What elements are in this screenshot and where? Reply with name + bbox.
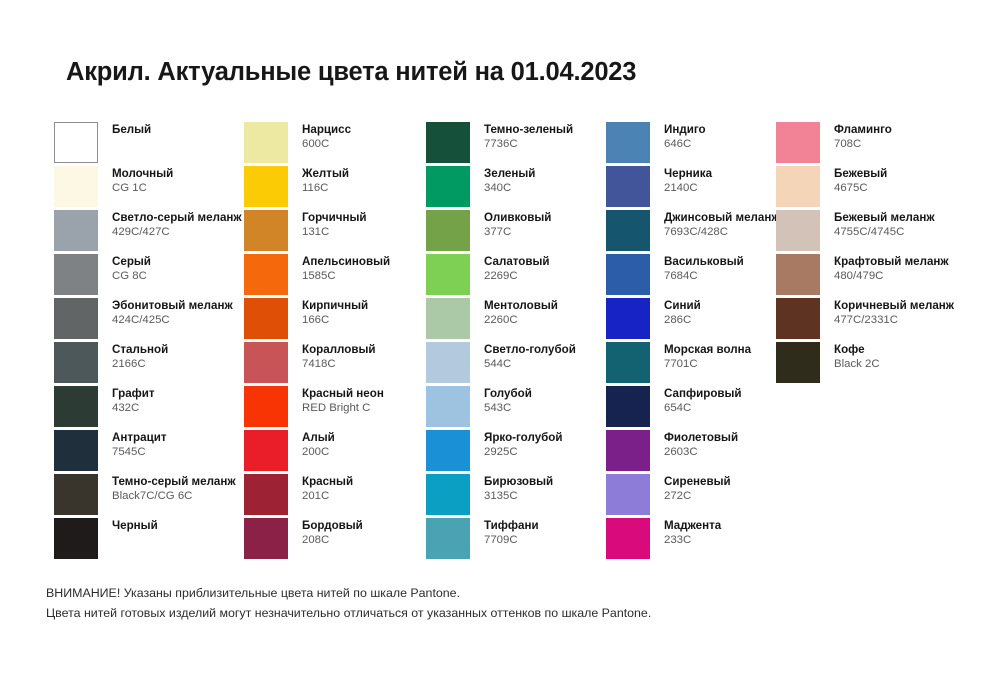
swatch-labels: Сапфировый 654C — [650, 386, 742, 415]
color-chip — [776, 254, 820, 295]
color-chip — [244, 298, 288, 339]
color-chip — [244, 474, 288, 515]
color-code: Black7C/CG 6C — [112, 490, 236, 503]
swatch-column-1: Белый Молочный CG 1C Светло-серый меланж… — [54, 122, 244, 562]
swatch-labels: Коричневый меланж 477C/2331C — [820, 298, 954, 327]
color-name: Бежевый — [834, 167, 887, 181]
swatch-column-2: Нарцисс 600C Желтый 116C Горчичный 131C — [244, 122, 426, 562]
swatch-labels: Красный 201C — [288, 474, 353, 503]
color-name: Зеленый — [484, 167, 535, 181]
color-chip — [54, 430, 98, 471]
swatch-row: Эбонитовый меланж 424C/425C — [54, 298, 244, 342]
swatch-row: Кирпичный 166C — [244, 298, 426, 342]
color-code: 208C — [302, 534, 363, 547]
color-name: Стальной — [112, 343, 168, 357]
swatch-row: Светло-голубой 544C — [426, 342, 606, 386]
color-chip — [776, 166, 820, 207]
color-chip — [244, 342, 288, 383]
color-code: 377C — [484, 226, 551, 239]
color-chip — [606, 210, 650, 251]
color-chip — [54, 166, 98, 207]
swatch-labels: Зеленый 340C — [470, 166, 535, 195]
color-code: 2603C — [664, 446, 738, 459]
swatch-labels: Темно-зеленый 7736C — [470, 122, 573, 151]
swatch-row: Морская волна 7701C — [606, 342, 776, 386]
color-name: Маджента — [664, 519, 721, 533]
color-code: 286C — [664, 314, 701, 327]
color-name: Бирюзовый — [484, 475, 553, 489]
color-chip — [54, 342, 98, 383]
color-chip — [54, 518, 98, 559]
color-code: 2140C — [664, 182, 712, 195]
color-name: Сиреневый — [664, 475, 731, 489]
color-code: 1585C — [302, 270, 390, 283]
color-code: 7736C — [484, 138, 573, 151]
color-chip — [426, 254, 470, 295]
color-chip — [244, 518, 288, 559]
color-code: 600C — [302, 138, 351, 151]
color-code: CG 1C — [112, 182, 173, 195]
color-name: Индиго — [664, 123, 706, 137]
swatch-labels: Алый 200C — [288, 430, 335, 459]
color-chip — [776, 210, 820, 251]
color-name: Серый — [112, 255, 151, 269]
color-code: 2166C — [112, 358, 168, 371]
swatch-row: Черный — [54, 518, 244, 562]
color-chip — [606, 518, 650, 559]
color-name: Тиффани — [484, 519, 539, 533]
color-chip — [244, 254, 288, 295]
color-chip — [244, 430, 288, 471]
color-chip — [776, 298, 820, 339]
swatch-row: Светло-серый меланж 429C/427C — [54, 210, 244, 254]
swatch-labels: Темно-серый меланж Black7C/CG 6C — [98, 474, 236, 503]
color-name: Васильковый — [664, 255, 744, 269]
color-name: Красный неон — [302, 387, 384, 401]
color-code: 233C — [664, 534, 721, 547]
swatch-labels: Фиолетовый 2603C — [650, 430, 738, 459]
color-name: Синий — [664, 299, 701, 313]
color-code: 544C — [484, 358, 576, 371]
color-code: 646C — [664, 138, 706, 151]
color-chip — [606, 474, 650, 515]
color-name: Бордовый — [302, 519, 363, 533]
color-name: Черный — [112, 519, 158, 533]
swatch-row: Ярко-голубой 2925C — [426, 430, 606, 474]
swatch-row: Молочный CG 1C — [54, 166, 244, 210]
color-name: Нарцисс — [302, 123, 351, 137]
color-chip — [426, 166, 470, 207]
swatch-labels: Красный неон RED Bright C — [288, 386, 384, 415]
color-name: Джинсовый меланж — [664, 211, 780, 225]
color-chip — [54, 386, 98, 427]
swatch-labels: Коралловый 7418C — [288, 342, 376, 371]
swatch-labels: Антрацит 7545C — [98, 430, 167, 459]
swatch-row: Красный неон RED Bright C — [244, 386, 426, 430]
color-code: 543C — [484, 402, 532, 415]
color-code: 166C — [302, 314, 368, 327]
swatch-row: Алый 200C — [244, 430, 426, 474]
color-chart-page: Акрил. Актуальные цвета нитей на 01.04.2… — [0, 0, 1000, 683]
swatch-row: Маджента 233C — [606, 518, 776, 562]
color-name: Крафтовый меланж — [834, 255, 949, 269]
color-name: Оливковый — [484, 211, 551, 225]
color-code: 480/479C — [834, 270, 949, 283]
color-name: Горчичный — [302, 211, 367, 225]
swatch-row: Сапфировый 654C — [606, 386, 776, 430]
swatch-row: Бежевый меланж 4755C/4745C — [776, 210, 976, 254]
color-chip — [54, 210, 98, 251]
color-name: Коралловый — [302, 343, 376, 357]
color-code: 7684C — [664, 270, 744, 283]
swatch-labels: Бирюзовый 3135C — [470, 474, 553, 503]
color-name: Кирпичный — [302, 299, 368, 313]
swatch-row: Желтый 116C — [244, 166, 426, 210]
color-chip — [54, 122, 98, 163]
color-code: CG 8C — [112, 270, 151, 283]
color-chip — [606, 122, 650, 163]
color-chip — [426, 386, 470, 427]
swatch-labels: Фламинго 708C — [820, 122, 892, 151]
swatch-labels: Графит 432C — [98, 386, 155, 415]
swatch-row: Зеленый 340C — [426, 166, 606, 210]
swatch-labels: Морская волна 7701C — [650, 342, 751, 371]
color-chip — [426, 342, 470, 383]
swatch-row: Графит 432C — [54, 386, 244, 430]
color-name: Молочный — [112, 167, 173, 181]
swatch-labels: Желтый 116C — [288, 166, 349, 195]
color-name: Бежевый меланж — [834, 211, 935, 225]
color-chip — [606, 430, 650, 471]
swatch-row: Джинсовый меланж 7693C/428C — [606, 210, 776, 254]
color-code: 131C — [302, 226, 367, 239]
color-code: 7709C — [484, 534, 539, 547]
swatch-labels: Бордовый 208C — [288, 518, 363, 547]
color-name: Коричневый меланж — [834, 299, 954, 313]
color-name: Голубой — [484, 387, 532, 401]
swatch-row: Стальной 2166C — [54, 342, 244, 386]
disclaimer-note: ВНИМАНИЕ! Указаны приблизительные цвета … — [46, 583, 651, 623]
color-code: Black 2C — [834, 358, 880, 371]
color-name: Сапфировый — [664, 387, 742, 401]
color-name: Ментоловый — [484, 299, 558, 313]
swatch-labels: Голубой 543C — [470, 386, 532, 415]
color-name: Красный — [302, 475, 353, 489]
swatch-row: Темно-серый меланж Black7C/CG 6C — [54, 474, 244, 518]
swatch-row: Бирюзовый 3135C — [426, 474, 606, 518]
swatch-labels: Джинсовый меланж 7693C/428C — [650, 210, 780, 239]
color-chip — [606, 254, 650, 295]
swatch-row: Крафтовый меланж 480/479C — [776, 254, 976, 298]
color-chip — [426, 210, 470, 251]
swatch-labels: Маджента 233C — [650, 518, 721, 547]
color-name: Фиолетовый — [664, 431, 738, 445]
swatch-row: Фламинго 708C — [776, 122, 976, 166]
swatch-column-3: Темно-зеленый 7736C Зеленый 340C Оливков… — [426, 122, 606, 562]
color-name: Кофе — [834, 343, 880, 357]
swatch-labels: Кирпичный 166C — [288, 298, 368, 327]
color-name: Светло-серый меланж — [112, 211, 242, 225]
swatch-row: Васильковый 7684C — [606, 254, 776, 298]
color-chip — [776, 342, 820, 383]
color-name: Салатовый — [484, 255, 550, 269]
swatch-labels: Кофе Black 2C — [820, 342, 880, 371]
swatch-row: Коралловый 7418C — [244, 342, 426, 386]
color-name: Алый — [302, 431, 335, 445]
swatch-labels: Синий 286C — [650, 298, 701, 327]
swatch-labels: Бежевый меланж 4755C/4745C — [820, 210, 935, 239]
color-code: 2260C — [484, 314, 558, 327]
color-code: 2269C — [484, 270, 550, 283]
color-chip — [426, 474, 470, 515]
swatch-row: Сиреневый 272C — [606, 474, 776, 518]
color-name: Ярко-голубой — [484, 431, 563, 445]
swatch-row: Красный 201C — [244, 474, 426, 518]
swatch-labels: Черный — [98, 518, 158, 534]
color-chip — [426, 122, 470, 163]
color-name: Фламинго — [834, 123, 892, 137]
swatch-column-4: Индиго 646C Черника 2140C Джинсовый мела… — [606, 122, 776, 562]
color-chip — [54, 254, 98, 295]
swatch-labels: Васильковый 7684C — [650, 254, 744, 283]
swatch-labels: Горчичный 131C — [288, 210, 367, 239]
color-chip — [54, 298, 98, 339]
color-code: 2925C — [484, 446, 563, 459]
swatch-labels: Ментоловый 2260C — [470, 298, 558, 327]
color-code: 272C — [664, 490, 731, 503]
color-code: 7693C/428C — [664, 226, 780, 239]
swatch-row: Белый — [54, 122, 244, 166]
color-name: Белый — [112, 123, 151, 137]
color-code: 477C/2331C — [834, 314, 954, 327]
swatch-column-5: Фламинго 708C Бежевый 4675C Бежевый мела… — [776, 122, 976, 386]
color-code: 7418C — [302, 358, 376, 371]
color-chip — [426, 430, 470, 471]
color-name: Антрацит — [112, 431, 167, 445]
color-chip — [426, 518, 470, 559]
color-name: Морская волна — [664, 343, 751, 357]
swatch-row: Серый CG 8C — [54, 254, 244, 298]
swatch-row: Антрацит 7545C — [54, 430, 244, 474]
swatch-row: Бордовый 208C — [244, 518, 426, 562]
color-name: Эбонитовый меланж — [112, 299, 233, 313]
swatch-labels: Оливковый 377C — [470, 210, 551, 239]
color-chip — [244, 122, 288, 163]
swatch-labels: Бежевый 4675C — [820, 166, 887, 195]
color-name: Черника — [664, 167, 712, 181]
swatch-row: Салатовый 2269C — [426, 254, 606, 298]
swatch-labels: Крафтовый меланж 480/479C — [820, 254, 949, 283]
color-name: Апельсиновый — [302, 255, 390, 269]
swatch-labels: Стальной 2166C — [98, 342, 168, 371]
color-chip — [606, 342, 650, 383]
swatch-row: Темно-зеленый 7736C — [426, 122, 606, 166]
swatch-row: Тиффани 7709C — [426, 518, 606, 562]
color-chip — [244, 166, 288, 207]
color-name: Светло-голубой — [484, 343, 576, 357]
color-code: 200C — [302, 446, 335, 459]
swatch-labels: Ярко-голубой 2925C — [470, 430, 563, 459]
color-code: 3135C — [484, 490, 553, 503]
swatch-row: Черника 2140C — [606, 166, 776, 210]
swatch-labels: Сиреневый 272C — [650, 474, 731, 503]
color-code: 432C — [112, 402, 155, 415]
swatch-row: Оливковый 377C — [426, 210, 606, 254]
swatch-labels: Нарцисс 600C — [288, 122, 351, 151]
disclaimer-line-2: Цвета нитей готовых изделий могут незнач… — [46, 603, 651, 623]
color-chip — [54, 474, 98, 515]
swatch-row: Апельсиновый 1585C — [244, 254, 426, 298]
color-chip — [606, 386, 650, 427]
swatch-row: Бежевый 4675C — [776, 166, 976, 210]
color-chip — [776, 122, 820, 163]
swatch-labels: Светло-голубой 544C — [470, 342, 576, 371]
color-code: RED Bright C — [302, 402, 384, 415]
color-code: 654C — [664, 402, 742, 415]
color-code: 7545C — [112, 446, 167, 459]
swatch-row: Ментоловый 2260C — [426, 298, 606, 342]
color-chip — [244, 386, 288, 427]
color-name: Графит — [112, 387, 155, 401]
color-code: 4755C/4745C — [834, 226, 935, 239]
swatch-labels: Тиффани 7709C — [470, 518, 539, 547]
swatch-row: Фиолетовый 2603C — [606, 430, 776, 474]
swatch-row: Индиго 646C — [606, 122, 776, 166]
color-chip — [606, 166, 650, 207]
color-code: 429C/427C — [112, 226, 242, 239]
disclaimer-line-1: ВНИМАНИЕ! Указаны приблизительные цвета … — [46, 583, 651, 603]
swatch-labels: Белый — [98, 122, 151, 138]
color-name: Темно-серый меланж — [112, 475, 236, 489]
swatch-row: Голубой 543C — [426, 386, 606, 430]
swatch-row: Кофе Black 2C — [776, 342, 976, 386]
swatch-labels: Светло-серый меланж 429C/427C — [98, 210, 242, 239]
color-chip — [606, 298, 650, 339]
color-name: Темно-зеленый — [484, 123, 573, 137]
color-code: 7701C — [664, 358, 751, 371]
swatch-row: Нарцисс 600C — [244, 122, 426, 166]
swatch-labels: Черника 2140C — [650, 166, 712, 195]
color-code: 201C — [302, 490, 353, 503]
swatch-row: Горчичный 131C — [244, 210, 426, 254]
swatch-labels: Апельсиновый 1585C — [288, 254, 390, 283]
color-chip — [244, 210, 288, 251]
color-code: 4675C — [834, 182, 887, 195]
swatch-labels: Индиго 646C — [650, 122, 706, 151]
swatch-row: Синий 286C — [606, 298, 776, 342]
color-code: 116C — [302, 182, 349, 195]
swatch-labels: Салатовый 2269C — [470, 254, 550, 283]
swatch-labels: Молочный CG 1C — [98, 166, 173, 195]
swatch-labels: Эбонитовый меланж 424C/425C — [98, 298, 233, 327]
swatch-labels: Серый CG 8C — [98, 254, 151, 283]
color-code: 708C — [834, 138, 892, 151]
color-code: 340C — [484, 182, 535, 195]
swatch-columns: Белый Молочный CG 1C Светло-серый меланж… — [54, 122, 984, 562]
swatch-row: Коричневый меланж 477C/2331C — [776, 298, 976, 342]
color-name: Желтый — [302, 167, 349, 181]
color-chip — [426, 298, 470, 339]
page-title: Акрил. Актуальные цвета нитей на 01.04.2… — [66, 58, 636, 87]
color-code: 424C/425C — [112, 314, 233, 327]
